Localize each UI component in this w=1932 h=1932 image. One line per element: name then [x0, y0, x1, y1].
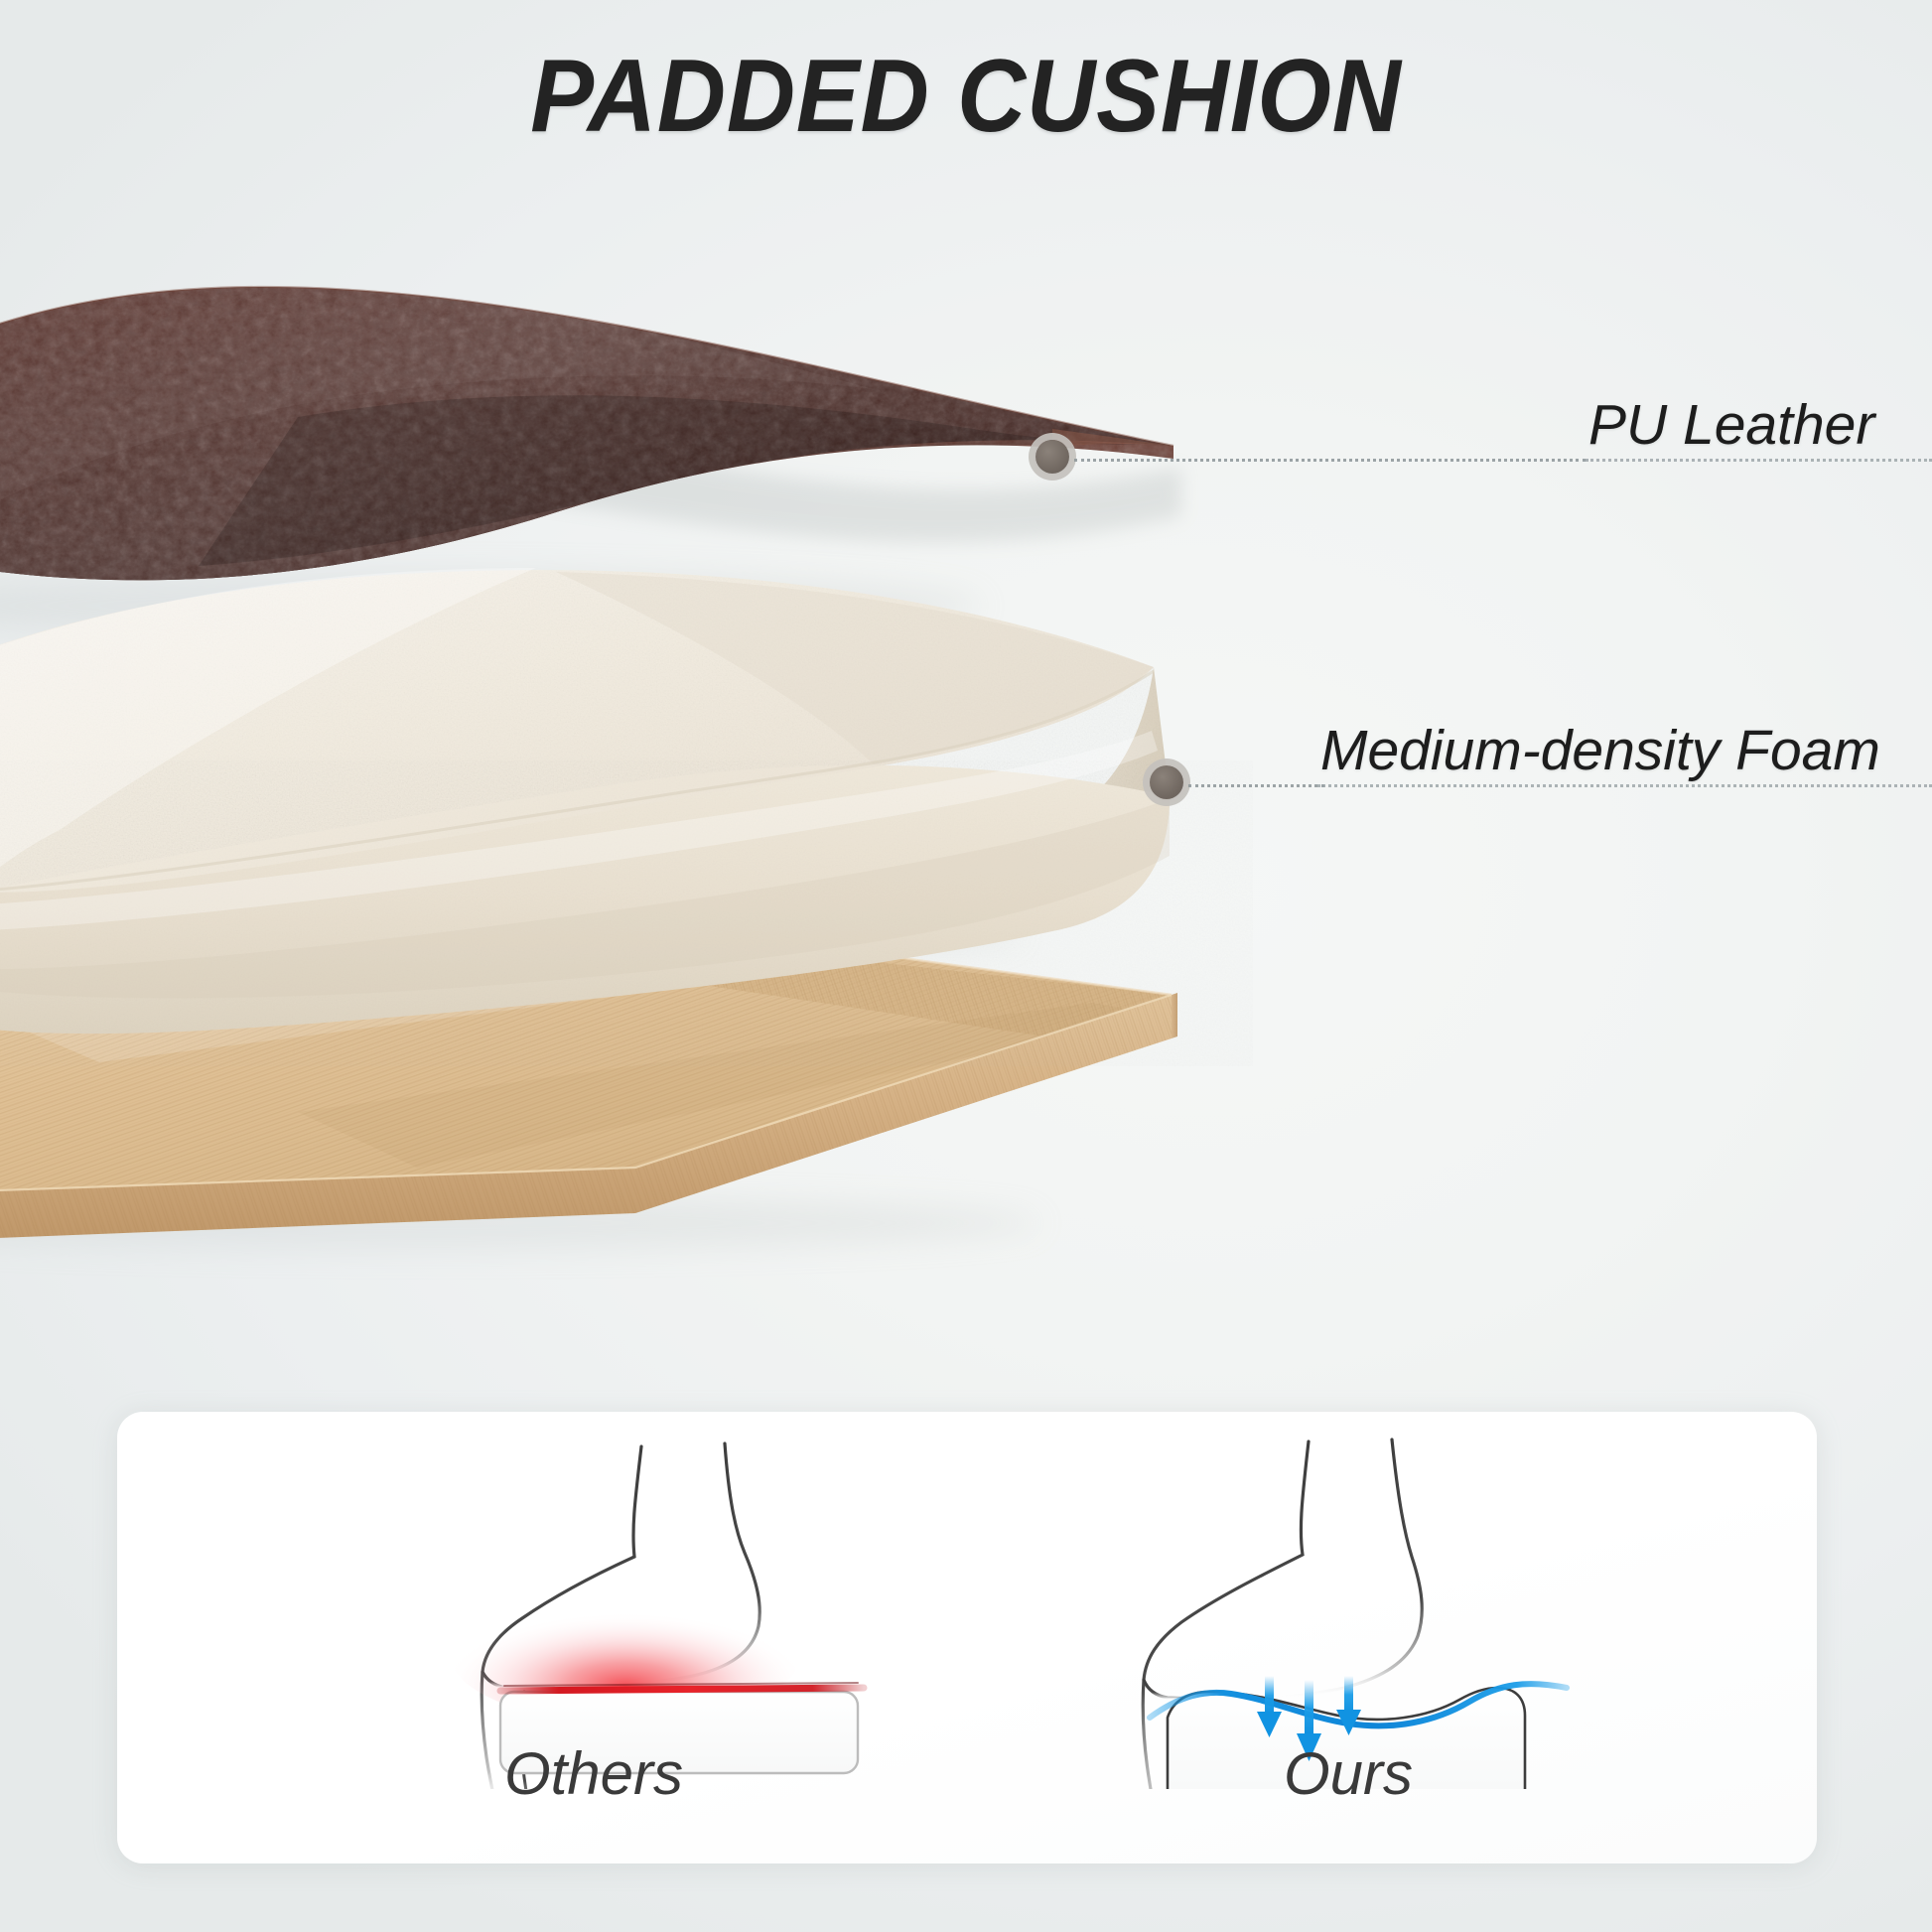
label-underline-pu-leather — [1586, 459, 1932, 462]
exploded-layer-stack — [0, 0, 1932, 1320]
comparison-panel: Others — [117, 1412, 1817, 1863]
comparison-caption-ours: Ours — [1011, 1739, 1686, 1808]
infographic-canvas: PADDED CUSHION — [0, 0, 1932, 1932]
leader-line-pu-leather — [1074, 459, 1586, 462]
callout-marker-foam — [1150, 765, 1183, 799]
label-underline-foam — [1317, 784, 1932, 787]
leader-line-foam — [1188, 784, 1324, 787]
callout-marker-pu-leather — [1035, 440, 1069, 474]
comparison-figure-ours — [1011, 1402, 1686, 1789]
label-foam: Medium-density Foam — [1320, 718, 1880, 783]
comparison-caption-others: Others — [256, 1739, 931, 1808]
label-pu-leather: PU Leather — [1588, 392, 1874, 458]
comparison-figure-others — [256, 1402, 931, 1789]
layer-foam-block — [0, 546, 1932, 1052]
